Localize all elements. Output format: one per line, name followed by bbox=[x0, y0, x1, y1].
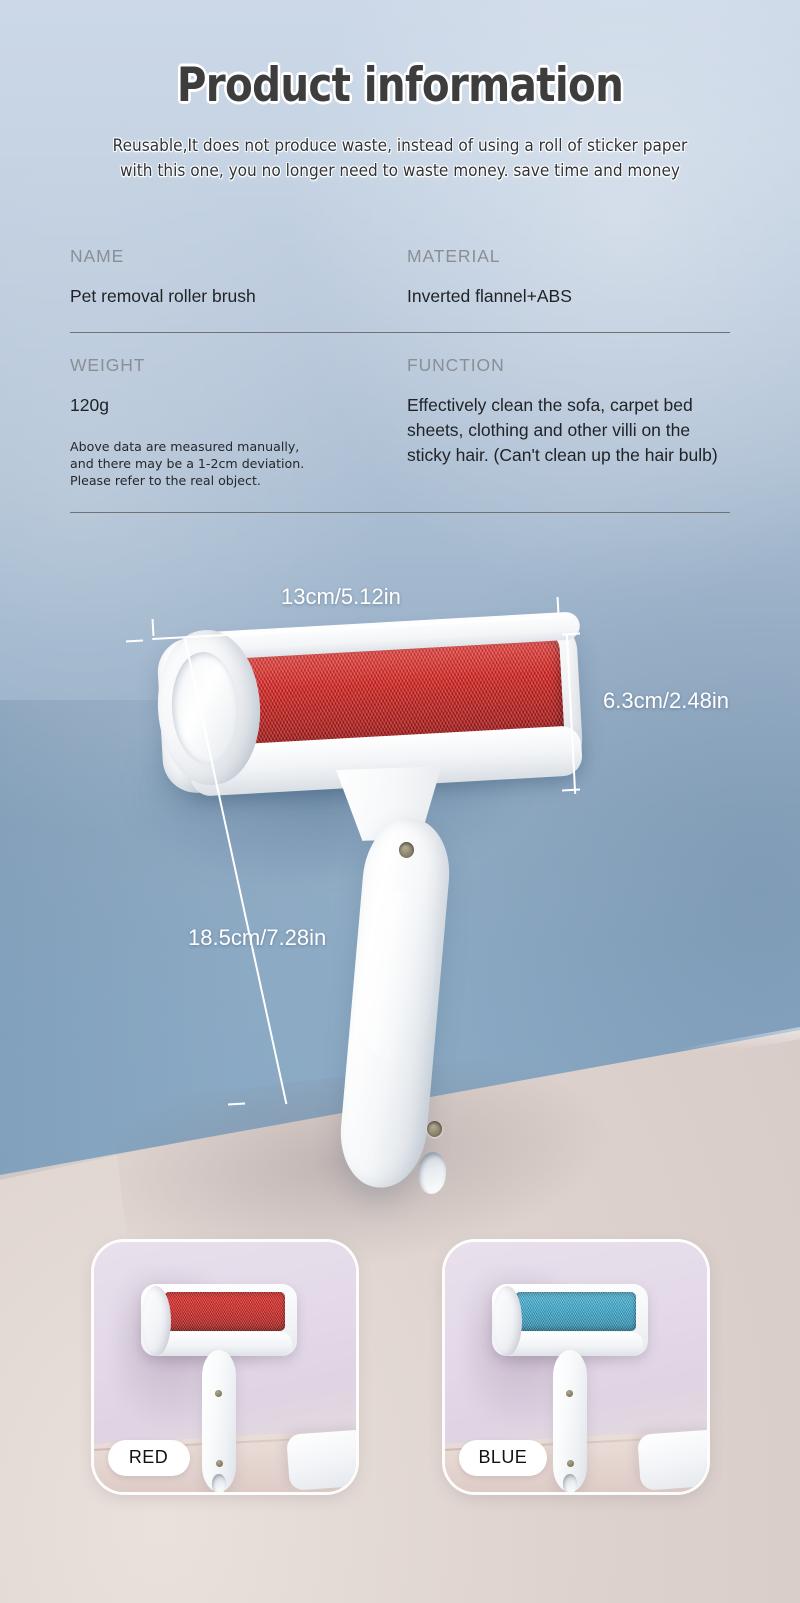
page-title: Product information bbox=[56, 58, 744, 113]
mini-handle-screw-upper bbox=[566, 1390, 573, 1397]
spec-label-function: FUNCTION bbox=[407, 355, 718, 376]
variant-badge-blue[interactable]: BLUE bbox=[459, 1440, 548, 1476]
mini-roller-end-cap bbox=[141, 1286, 171, 1356]
variant-badge-red[interactable]: RED bbox=[108, 1440, 190, 1476]
mini-handle-screw-upper bbox=[215, 1390, 222, 1397]
spec-value-weight: 120g bbox=[70, 393, 387, 418]
measurement-disclaimer-line-3: Please refer to the real object. bbox=[70, 472, 387, 489]
product-information-page: Product information Reusable,It does not… bbox=[0, 0, 800, 1603]
spec-label-name: NAME bbox=[70, 246, 387, 267]
spec-label-material: MATERIAL bbox=[407, 246, 718, 267]
page-subtitle: Reusable,It does not produce waste, inst… bbox=[28, 133, 772, 183]
spec-divider-1 bbox=[70, 332, 730, 333]
spec-row-2: WEIGHT 120g Above data are measured manu… bbox=[70, 355, 732, 489]
spec-divider-2 bbox=[70, 512, 730, 513]
spec-value-name: Pet removal roller brush bbox=[70, 284, 387, 309]
spec-row-1: NAME Pet removal roller brush MATERIAL I… bbox=[70, 246, 732, 309]
mini-roller-end-cap bbox=[492, 1286, 522, 1356]
width-dimension-label: 13cm/5.12in bbox=[281, 584, 401, 610]
spec-cell-name: NAME Pet removal roller brush bbox=[70, 246, 401, 309]
mini-handle-hang-hole bbox=[563, 1474, 577, 1492]
mini-handle-screw-lower bbox=[216, 1460, 223, 1467]
mini-roller-fabric-blue bbox=[515, 1292, 636, 1331]
specification-table: NAME Pet removal roller brush MATERIAL I… bbox=[70, 246, 732, 535]
spec-label-weight: WEIGHT bbox=[70, 355, 387, 376]
mini-handle-hang-hole bbox=[212, 1474, 226, 1492]
header: Product information Reusable,It does not… bbox=[0, 0, 800, 183]
mini-prop-cylinder bbox=[637, 1429, 707, 1491]
product-photo bbox=[0, 560, 800, 1260]
measurement-disclaimer-line-1: Above data are measured manually, bbox=[70, 438, 387, 455]
mini-roller-fabric-red bbox=[164, 1292, 285, 1331]
spec-value-material: Inverted flannel+ABS bbox=[407, 284, 718, 309]
mini-handle bbox=[202, 1350, 236, 1492]
height-dimension-label: 18.5cm/7.28in bbox=[188, 925, 326, 951]
mini-prop-cylinder bbox=[286, 1429, 356, 1491]
handle-screw-upper bbox=[399, 842, 414, 858]
depth-dimension-label: 6.3cm/2.48in bbox=[603, 688, 729, 714]
handle-screw-lower bbox=[427, 1121, 442, 1137]
spec-cell-material: MATERIAL Inverted flannel+ABS bbox=[401, 246, 732, 309]
color-variant-row: RED BLUE bbox=[0, 1242, 800, 1492]
spec-cell-function: FUNCTION Effectively clean the sofa, car… bbox=[401, 355, 732, 489]
measurement-disclaimer: Above data are measured manually, and th… bbox=[70, 438, 387, 489]
mini-handle bbox=[553, 1350, 587, 1492]
variant-card-blue[interactable]: BLUE bbox=[445, 1242, 707, 1492]
spec-value-function: Effectively clean the sofa, carpet bed s… bbox=[407, 393, 718, 468]
measurement-disclaimer-line-2: and there may be a 1-2cm deviation. bbox=[70, 455, 387, 472]
page-subtitle-line-1: Reusable,It does not produce waste, inst… bbox=[28, 133, 772, 158]
mini-handle-screw-lower bbox=[567, 1460, 574, 1467]
spec-cell-weight: WEIGHT 120g Above data are measured manu… bbox=[70, 355, 401, 489]
page-subtitle-line-2: with this one, you no longer need to was… bbox=[28, 158, 772, 183]
variant-card-red[interactable]: RED bbox=[94, 1242, 356, 1492]
